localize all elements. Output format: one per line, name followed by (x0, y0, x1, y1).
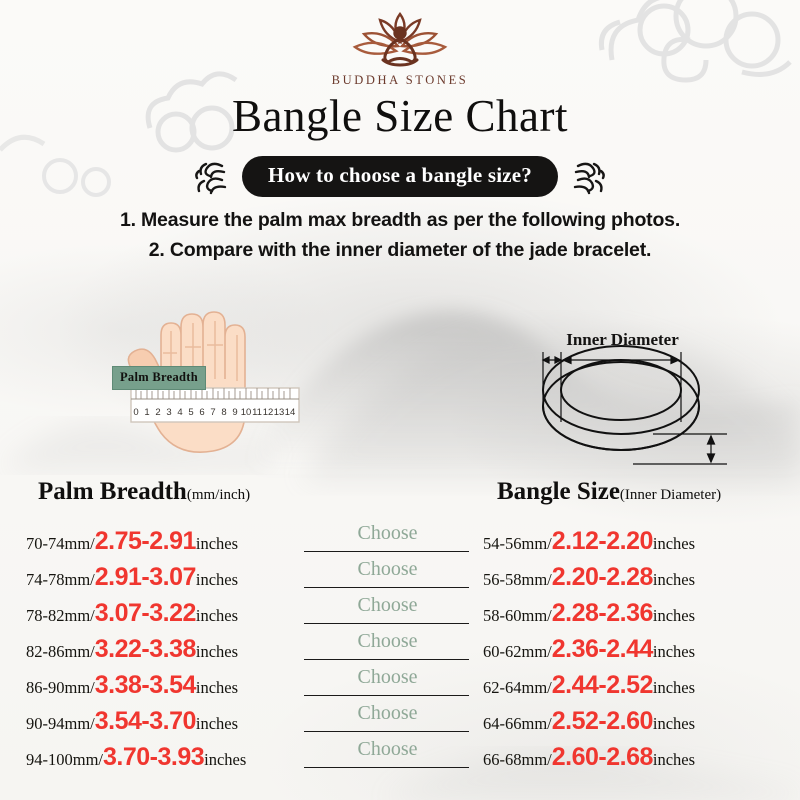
bangle-mm-value: 64-66mm/ (483, 714, 552, 734)
section-title-left: Palm Breadth (38, 478, 187, 505)
ruler-tick-label: 13 (274, 407, 285, 418)
ruler-tick-label: 8 (221, 407, 226, 418)
bangle-mm-value: 60-62mm/ (483, 642, 552, 662)
palm-inch-value: 3.07-3.22 (95, 599, 196, 628)
palm-mm-value: 82-86mm/ (26, 642, 95, 662)
instruction-step-2: 2. Compare with the inner diameter of th… (0, 235, 800, 265)
bangle-inch-value: 2.12-2.20 (552, 527, 653, 556)
instruction-step-1: 1. Measure the palm max breadth as per t… (0, 205, 800, 235)
bangle-inch-unit: inches (653, 606, 695, 626)
palm-mm-value: 90-94mm/ (26, 714, 95, 734)
choose-label: Choose (358, 523, 418, 544)
palm-breadth-cell: 78-82mm/3.07-3.22inches (0, 599, 300, 628)
bangle-inch-unit: inches (653, 678, 695, 698)
bangle-mm-value: 66-68mm/ (483, 750, 552, 770)
palm-breadth-cell: 86-90mm/3.38-3.54inches (0, 671, 300, 700)
ruler: 01234567891011121314 (131, 388, 299, 422)
palm-inch-value: 3.38-3.54 (95, 671, 196, 700)
palm-mm-value: 70-74mm/ (26, 534, 95, 554)
table-row: 78-82mm/3.07-3.22inchesChoose58-60mm/2.2… (0, 595, 800, 631)
bangle-inch-unit: inches (653, 534, 695, 554)
bangle-size-cell: 62-64mm/2.44-2.52inches (475, 671, 800, 700)
ruler-tick-label: 12 (263, 407, 274, 418)
choose-field[interactable]: Choose (300, 739, 475, 775)
palm-inch-unit: inches (196, 642, 238, 662)
choose-label: Choose (358, 631, 418, 652)
brand-logo: BUDDHA STONES (0, 8, 800, 88)
section-title-right: Bangle Size (497, 478, 620, 505)
bangle-inch-unit: inches (653, 750, 695, 770)
choose-label: Choose (358, 559, 418, 580)
bangle-mm-value: 56-58mm/ (483, 570, 552, 590)
table-row: 90-94mm/3.54-3.70inchesChoose64-66mm/2.5… (0, 703, 800, 739)
subtitle-row: How to choose a bangle size? (0, 156, 800, 197)
table-row: 94-100mm/3.70-3.93inchesChoose66-68mm/2.… (0, 739, 800, 775)
instructions: 1. Measure the palm max breadth as per t… (0, 205, 800, 265)
bangle-inch-value: 2.20-2.28 (552, 563, 653, 592)
bangle-inch-value: 2.28-2.36 (552, 599, 653, 628)
bangle-size-cell: 66-68mm/2.60-2.68inches (475, 743, 800, 772)
ruler-tick-label: 2 (155, 407, 160, 418)
choose-label: Choose (358, 703, 418, 724)
ruler-tick-label: 14 (285, 407, 296, 418)
brand-name: BUDDHA STONES (0, 73, 800, 88)
ruler-tick-label: 7 (210, 407, 215, 418)
choose-field[interactable]: Choose (300, 667, 475, 703)
palm-inch-unit: inches (204, 750, 246, 770)
palm-inch-value: 3.22-3.38 (95, 635, 196, 664)
bangle-size-cell: 54-56mm/2.12-2.20inches (475, 527, 800, 556)
bangle-mm-value: 62-64mm/ (483, 678, 552, 698)
section-heading-bangle-size: Bangle Size(Inner Diameter) (497, 478, 721, 506)
choose-label: Choose (358, 667, 418, 688)
palm-inch-value: 2.75-2.91 (95, 527, 196, 556)
table-row: 70-74mm/2.75-2.91inchesChoose54-56mm/2.1… (0, 523, 800, 559)
choose-field[interactable]: Choose (300, 559, 475, 595)
palm-breadth-cell: 94-100mm/3.70-3.93inches (0, 743, 300, 772)
bangle-inch-unit: inches (653, 570, 695, 590)
palm-mm-value: 74-78mm/ (26, 570, 95, 590)
bangle-size-cell: 56-58mm/2.20-2.28inches (475, 563, 800, 592)
palm-mm-value: 94-100mm/ (26, 750, 103, 770)
ruler-tick-label: 10 (241, 407, 252, 418)
palm-inch-value: 2.91-3.07 (95, 563, 196, 592)
page-root: BUDDHA STONES Bangle Size Chart How to c… (0, 0, 800, 800)
choose-label: Choose (358, 739, 418, 760)
table-row: 82-86mm/3.22-3.38inchesChoose60-62mm/2.3… (0, 631, 800, 667)
palm-breadth-cell: 82-86mm/3.22-3.38inches (0, 635, 300, 664)
cloud-swirl-ornament-icon-right (572, 157, 608, 197)
section-unit-right: (Inner Diameter) (620, 487, 721, 503)
table-row: 86-90mm/3.38-3.54inchesChoose62-64mm/2.4… (0, 667, 800, 703)
choose-field[interactable]: Choose (300, 631, 475, 667)
ruler-tick-label: 0 (133, 407, 138, 418)
bangle-inch-unit: inches (653, 714, 695, 734)
bangle-inch-value: 2.52-2.60 (552, 707, 653, 736)
page-title: Bangle Size Chart (0, 90, 800, 142)
size-table: 70-74mm/2.75-2.91inchesChoose54-56mm/2.1… (0, 523, 800, 775)
ruler-tick-label: 4 (177, 407, 182, 418)
bangle-size-cell: 64-66mm/2.52-2.60inches (475, 707, 800, 736)
bangle-size-cell: 58-60mm/2.28-2.36inches (475, 599, 800, 628)
palm-inch-value: 3.70-3.93 (103, 743, 204, 772)
bangle-inch-value: 2.36-2.44 (552, 635, 653, 664)
lotus-meditation-icon (341, 8, 459, 70)
choose-label: Choose (358, 595, 418, 616)
cloud-swirl-ornament-icon-left (192, 157, 228, 197)
palm-inch-unit: inches (196, 714, 238, 734)
choose-field[interactable]: Choose (300, 703, 475, 739)
ruler-tick-label: 11 (252, 407, 262, 418)
palm-mm-value: 86-90mm/ (26, 678, 95, 698)
palm-breadth-cell: 74-78mm/2.91-3.07inches (0, 563, 300, 592)
palm-breadth-cell: 70-74mm/2.75-2.91inches (0, 527, 300, 556)
section-heading-palm-breadth: Palm Breadth(mm/inch) (38, 478, 250, 506)
palm-inch-unit: inches (196, 534, 238, 554)
section-unit-left: (mm/inch) (187, 487, 250, 503)
bangle-inch-value: 2.44-2.52 (552, 671, 653, 700)
bangle-inch-unit: inches (653, 642, 695, 662)
palm-inch-unit: inches (196, 678, 238, 698)
bangle-mm-value: 58-60mm/ (483, 606, 552, 626)
palm-breadth-label: Palm Breadth (112, 366, 206, 390)
bangle-size-cell: 60-62mm/2.36-2.44inches (475, 635, 800, 664)
palm-breadth-cell: 90-94mm/3.54-3.70inches (0, 707, 300, 736)
palm-inch-unit: inches (196, 570, 238, 590)
palm-inch-value: 3.54-3.70 (95, 707, 196, 736)
ruler-tick-label: 5 (188, 407, 193, 418)
ruler-tick-label: 3 (166, 407, 171, 418)
palm-mm-value: 78-82mm/ (26, 606, 95, 626)
subtitle-pill: How to choose a bangle size? (242, 156, 558, 197)
choose-field[interactable]: Choose (300, 523, 475, 559)
ruler-tick-label: 6 (199, 407, 204, 418)
bangle-inch-value: 2.60-2.68 (552, 743, 653, 772)
bangle-mm-value: 54-56mm/ (483, 534, 552, 554)
palm-inch-unit: inches (196, 606, 238, 626)
table-row: 74-78mm/2.91-3.07inchesChoose56-58mm/2.2… (0, 559, 800, 595)
ruler-tick-label: 1 (144, 407, 149, 418)
choose-field[interactable]: Choose (300, 595, 475, 631)
bangle-ring-illustration (505, 330, 740, 475)
ruler-tick-label: 9 (232, 407, 237, 418)
